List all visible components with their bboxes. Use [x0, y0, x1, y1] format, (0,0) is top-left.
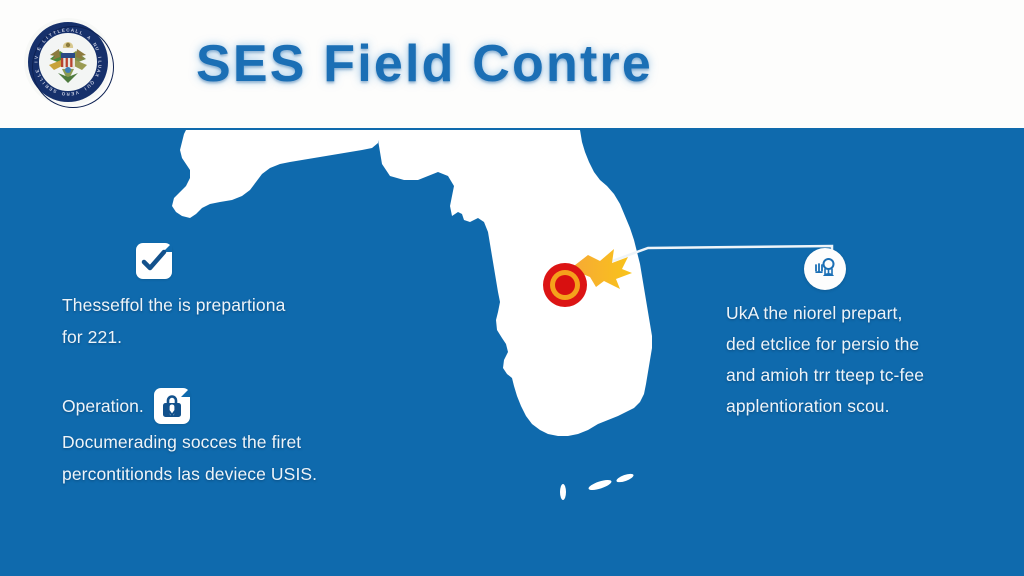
- marker-ring-inner: [555, 275, 575, 295]
- lock-icon: [154, 388, 190, 424]
- callout-block-3: UkA the niorel prepart, ded etclice for …: [726, 248, 978, 422]
- callout-2-line-1: Documerading socces the firet: [62, 426, 402, 458]
- callout-block-2: Operation. Documerading socces the firet…: [62, 388, 402, 490]
- callout-1-line-1: Thesseffol the is prepartiona: [62, 289, 392, 321]
- callout-2-lead: Operation.: [62, 396, 144, 417]
- page-title: SES Field Contre: [196, 34, 653, 94]
- seal-eagle-emblem: [46, 39, 90, 85]
- callout-block-1: Thesseffol the is prepartiona for 221.: [62, 243, 392, 353]
- people-group-icon: [804, 248, 846, 290]
- callout-3-text: UkA the niorel prepart, ded etclice for …: [726, 298, 978, 422]
- callout-3-line-1: UkA the niorel prepart,: [726, 298, 978, 329]
- callout-2-line-2: percontitionds las deviece USIS.: [62, 458, 402, 490]
- header-title-wrap: SES Field Contre: [196, 0, 653, 128]
- callout-3-line-2: ded etclice for persio the: [726, 329, 978, 360]
- government-seal: CALL A NU ILUAX QUI VERO SERILLE IV E LI…: [24, 18, 112, 106]
- callout-1-line-2: for 221.: [62, 321, 392, 353]
- island-key-1: [560, 484, 566, 500]
- callout-2-text: Documerading socces the firet percontiti…: [62, 426, 402, 490]
- callout-2-heading-row: Operation.: [62, 388, 402, 424]
- location-marker[interactable]: [543, 263, 587, 307]
- callout-1-text: Thesseffol the is prepartiona for 221.: [62, 289, 392, 353]
- callout-3-line-4: applentioration scou.: [726, 391, 978, 422]
- page-header: CALL A NU ILUAX QUI VERO SERILLE IV E LI…: [0, 0, 1024, 128]
- document-check-icon: [136, 243, 172, 279]
- callout-3-line-3: and amioh trr tteep tc-fee: [726, 360, 978, 391]
